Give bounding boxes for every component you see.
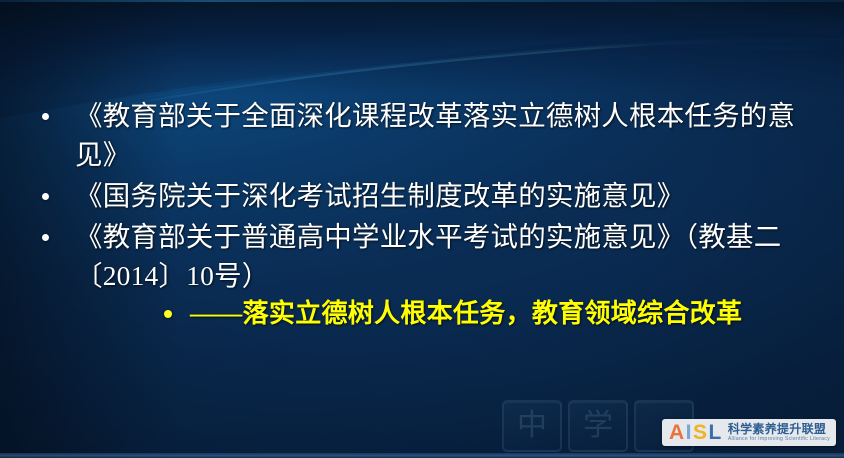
logo-english-name: Alliance for Improving Scientific Litera… bbox=[728, 437, 830, 442]
bullet-dot-icon bbox=[42, 193, 49, 200]
sub-bullet-dot-icon bbox=[164, 310, 172, 318]
aisl-logo: AISL 科学素养提升联盟 Alliance for Improving Sci… bbox=[662, 419, 836, 446]
watermark-card: 学 bbox=[568, 400, 628, 452]
presentation-slide: 《教育部关于全面深化课程改革落实立德树人根本任务的意见》 《国务院关于深化考试招… bbox=[0, 0, 844, 458]
sub-bullet-item: ——落实立德树人根本任务，教育领域综合改革 bbox=[160, 296, 840, 332]
logo-letter-s: S bbox=[693, 421, 709, 444]
bullet-item: 《教育部关于普通高中学业水平考试的实施意见》（教基二〔2014〕10号） bbox=[34, 217, 824, 295]
slide-content: 《教育部关于全面深化课程改革落实立德树人根本任务的意见》 《国务院关于深化考试招… bbox=[0, 0, 844, 458]
bullet-dot-icon bbox=[42, 113, 49, 120]
logo-chinese-name: 科学素养提升联盟 bbox=[728, 423, 830, 435]
watermark-card: 中 bbox=[502, 400, 562, 452]
sub-bullet-text: ——落实立德树人根本任务，教育领域综合改革 bbox=[190, 296, 742, 332]
bullet-item: 《教育部关于全面深化课程改革落实立德树人根本任务的意见》 bbox=[34, 96, 824, 174]
bullet-item: 《国务院关于深化考试招生制度改革的实施意见》 bbox=[34, 176, 824, 215]
bullet-text: 《国务院关于深化考试招生制度改革的实施意见》 bbox=[75, 176, 684, 215]
bullet-dot-icon bbox=[42, 234, 49, 241]
bullet-text: 《教育部关于普通高中学业水平考试的实施意见》（教基二〔2014〕10号） bbox=[75, 217, 824, 295]
bullet-list: 《教育部关于全面深化课程改革落实立德树人根本任务的意见》 《国务院关于深化考试招… bbox=[34, 96, 824, 297]
logo-letters: AISL bbox=[669, 422, 723, 443]
sub-bullet-list: ——落实立德树人根本任务，教育领域综合改革 bbox=[160, 296, 840, 334]
logo-letter-a: A bbox=[669, 421, 686, 444]
logo-letter-i: I bbox=[686, 421, 693, 444]
logo-letter-l: L bbox=[708, 421, 722, 444]
bullet-text: 《教育部关于全面深化课程改革落实立德树人根本任务的意见》 bbox=[75, 96, 824, 174]
logo-text-block: 科学素养提升联盟 Alliance for Improving Scientif… bbox=[728, 423, 830, 442]
